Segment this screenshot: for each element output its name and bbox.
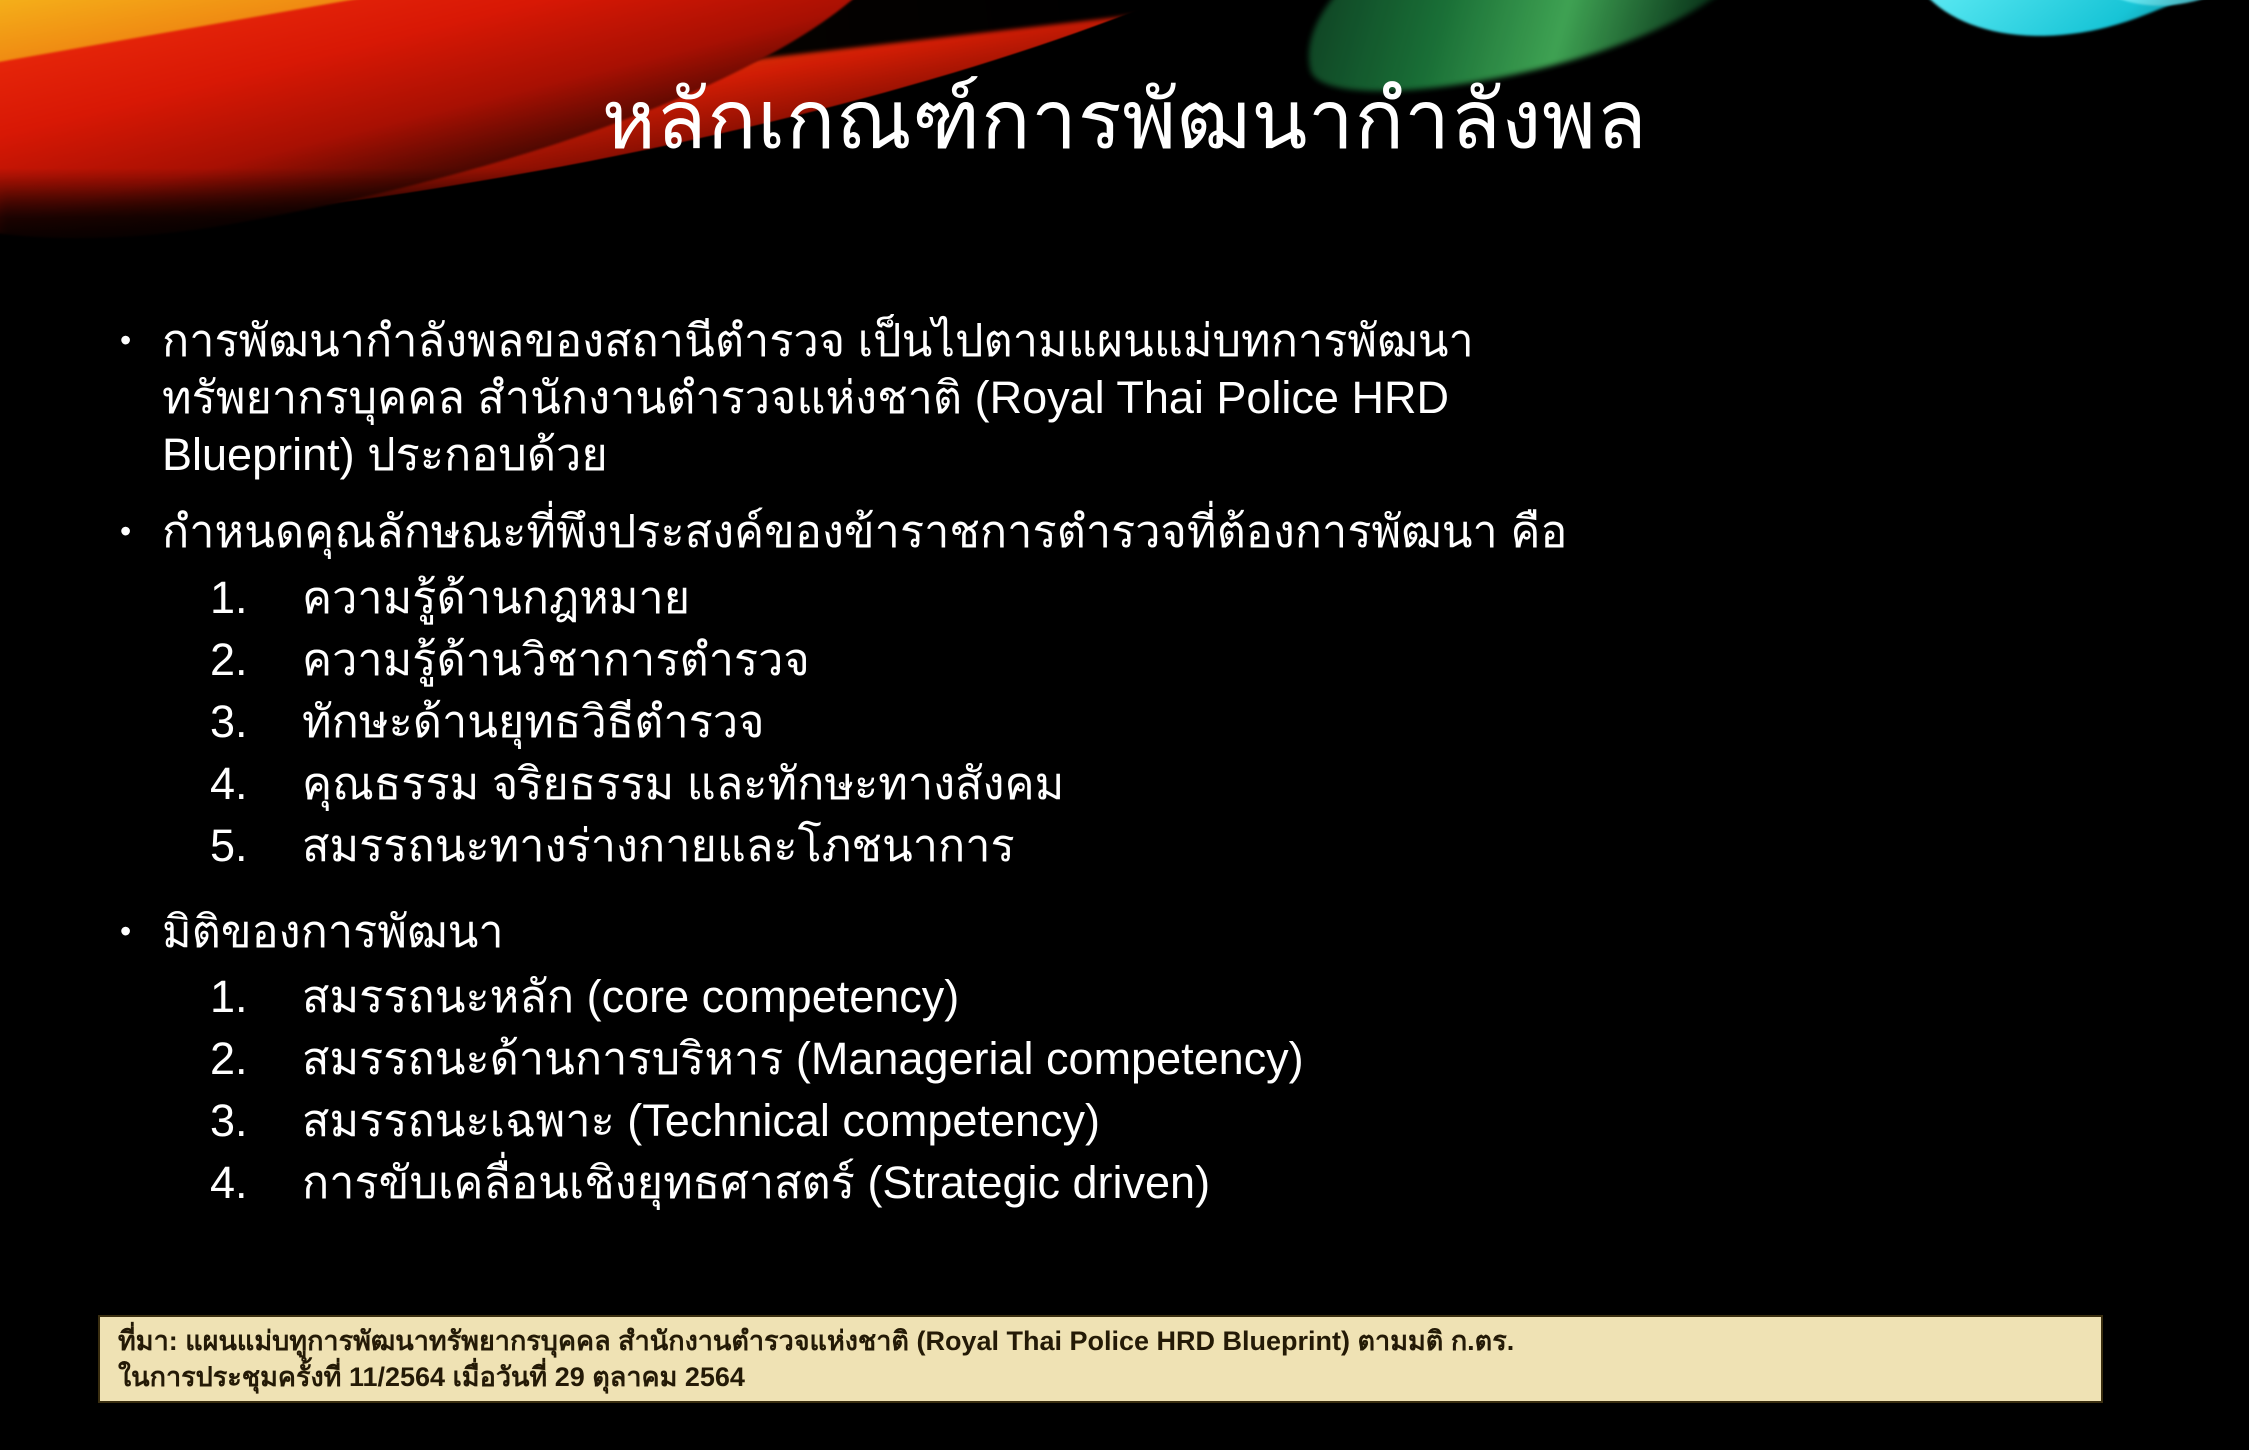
list-item: 1. ความรู้ด้านกฎหมาย (120, 567, 2180, 629)
bullet-item-1-line-2: ทรัพยากรบุคคล สำนักงานตำรวจแห่งชาติ (Roy… (162, 369, 2180, 426)
list-item-label: สมรรถนะหลัก (core competency) (302, 966, 2180, 1028)
bullet-item-3-line-1: มิติของการพัฒนา (162, 903, 2180, 960)
list-item-label: ความรู้ด้านวิชาการตำรวจ (302, 629, 2180, 691)
bullet-item-3: • มิติของการพัฒนา (120, 903, 2180, 960)
list-item-number: 2. (210, 1028, 302, 1090)
bullet-item-2-line-1: กำหนดคุณลักษณะที่พึงประสงค์ของข้าราชการต… (162, 503, 2180, 560)
list-item: 4. การขับเคลื่อนเชิงยุทธศาสตร์ (Strategi… (120, 1152, 2180, 1214)
list-item-label: ทักษะด้านยุทธวิธีตำรวจ (302, 691, 2180, 753)
list-item-label: ความรู้ด้านกฎหมาย (302, 567, 2180, 629)
list-item-number: 2. (210, 629, 302, 691)
list-item-number: 1. (210, 567, 302, 629)
bullet-item-1-line-3: Blueprint) ประกอบด้วย (162, 426, 2180, 483)
source-citation-box: ที่มา: แผนแม่บทูการพัฒนาทรัพยากรบุคคล สำ… (98, 1315, 2103, 1403)
bullet-marker-icon: • (120, 312, 162, 368)
slide-canvas: หลักเกณฑ์การพัฒนากำลังพล • การพัฒนากำลัง… (0, 0, 2249, 1450)
cyan-ribbon-shape (1880, 0, 2249, 85)
list-item: 2. ความรู้ด้านวิชาการตำรวจ (120, 629, 2180, 691)
spacer (120, 489, 2180, 503)
bullet-marker-icon: • (120, 503, 162, 559)
list-item: 5. สมรรถนะทางร่างกายและโภชนาการ (120, 815, 2180, 877)
list-item: 3. ทักษะด้านยุทธวิธีตำรวจ (120, 691, 2180, 753)
bullet-marker-icon: • (120, 903, 162, 959)
bullet-item-2-text: กำหนดคุณลักษณะที่พึงประสงค์ของข้าราชการต… (162, 503, 2180, 560)
list-item-number: 4. (210, 753, 302, 815)
slide-title: หลักเกณฑ์การพัฒนากำลังพล (0, 78, 2249, 164)
list-item-number: 1. (210, 966, 302, 1028)
list-item: 1. สมรรถนะหลัก (core competency) (120, 966, 2180, 1028)
list-item: 2. สมรรถนะด้านการบริหาร (Managerial comp… (120, 1028, 2180, 1090)
numbered-list-attributes: 1. ความรู้ด้านกฎหมาย 2. ความรู้ด้านวิชาก… (120, 567, 2180, 877)
list-item-number: 4. (210, 1152, 302, 1214)
list-item-label: สมรรถนะเฉพาะ (Technical competency) (302, 1090, 2180, 1152)
numbered-list-dimensions: 1. สมรรถนะหลัก (core competency) 2. สมรร… (120, 966, 2180, 1214)
list-item-label: สมรรถนะทางร่างกายและโภชนาการ (302, 815, 2180, 877)
list-item: 3. สมรรถนะเฉพาะ (Technical competency) (120, 1090, 2180, 1152)
bullet-item-1-text: การพัฒนากำลังพลของสถานีตำรวจ เป็นไปตามแผ… (162, 312, 2180, 483)
bullet-item-2: • กำหนดคุณลักษณะที่พึงประสงค์ของข้าราชกา… (120, 503, 2180, 560)
source-line-1: ที่มา: แผนแม่บทูการพัฒนาทรัพยากรบุคคล สำ… (118, 1324, 2085, 1360)
list-item-label: สมรรถนะด้านการบริหาร (Managerial compete… (302, 1028, 2180, 1090)
slide-body: • การพัฒนากำลังพลของสถานีตำรวจ เป็นไปตาม… (120, 312, 2180, 1215)
list-item-number: 5. (210, 815, 302, 877)
list-item-label: คุณธรรม จริยธรรม และทักษะทางสังคม (302, 753, 2180, 815)
bullet-item-1: • การพัฒนากำลังพลของสถานีตำรวจ เป็นไปตาม… (120, 312, 2180, 483)
spacer (120, 877, 2180, 903)
source-line-2: ในการประชุมครั้งที่ 11/2564 เมื่อวันที่ … (118, 1360, 2085, 1396)
list-item: 4. คุณธรรม จริยธรรม และทักษะทางสังคม (120, 753, 2180, 815)
list-item-label: การขับเคลื่อนเชิงยุทธศาสตร์ (Strategic d… (302, 1152, 2180, 1214)
bullet-item-1-line-1: การพัฒนากำลังพลของสถานีตำรวจ เป็นไปตามแผ… (162, 312, 2180, 369)
artwork-bottom-fade (0, 168, 2249, 260)
bullet-item-3-text: มิติของการพัฒนา (162, 903, 2180, 960)
list-item-number: 3. (210, 691, 302, 753)
dark-fade-overlay (0, 185, 1400, 260)
list-item-number: 3. (210, 1090, 302, 1152)
cyan-inner-ribbon-shape (2050, 0, 2249, 41)
